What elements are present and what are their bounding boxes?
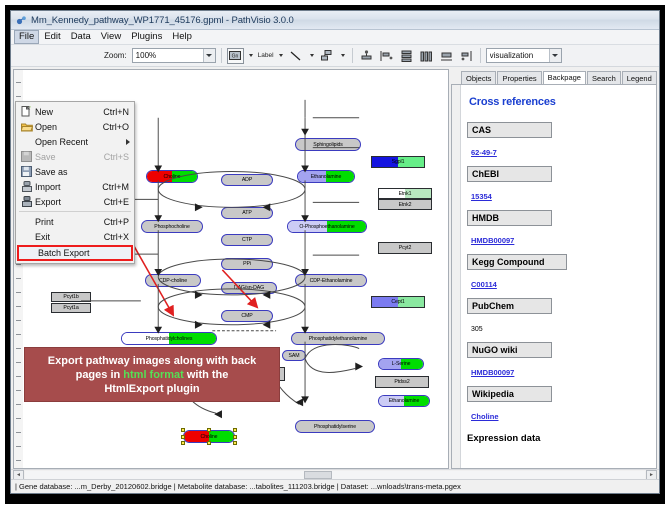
selection-handle[interactable] [207, 441, 211, 445]
pathway-gene-label: Ptdss2 [394, 379, 409, 385]
pathway-node-label: Sphingolipids [313, 142, 343, 148]
xref-value-row: 62-49-7 [467, 142, 648, 166]
scroll-right-icon[interactable]: ► [646, 470, 657, 480]
file-menu-dropdown[interactable]: NewCtrl+NOpenCtrl+OOpen RecentSaveCtrl+S… [15, 101, 135, 264]
pathway-node-label: CMP [241, 313, 252, 319]
save-as-icon [18, 165, 35, 178]
pathway-node-phosphatidylcholines[interactable]: Phosphatidylcholines [121, 332, 217, 345]
pathway-gene-etnk1[interactable]: Etnk1 [378, 188, 432, 199]
backpage-scrollbar[interactable] [452, 85, 461, 468]
main-toolbar: Zoom: 100% Gn Label [11, 45, 659, 67]
save-disk-icon [18, 150, 35, 163]
pathway-node-dag[interactable]: DAG/sn-DAG [221, 282, 277, 294]
status-text: | Gene database: ...m_Derby_20120602.bri… [15, 482, 461, 491]
backpage-content: Cross references CAS62-49-7ChEBI15354HMD… [461, 85, 656, 468]
cross-references-title: Cross references [469, 96, 648, 108]
pathway-gene-cept1[interactable]: Cept1 [371, 296, 425, 308]
chevron-down-icon-visualization[interactable] [549, 49, 561, 62]
pathway-gene-etnk2[interactable]: Etnk2 [378, 199, 432, 210]
selection-handle[interactable] [233, 428, 237, 432]
side-panel: Objects Properties Backpage Search Legen… [451, 69, 657, 469]
tab-legend[interactable]: Legend [622, 71, 657, 84]
xref-value-kegg-compound[interactable]: C00114 [471, 280, 497, 289]
scroll-left-icon[interactable]: ◄ [13, 470, 24, 480]
gene-tool-chevron-icon[interactable] [249, 54, 253, 57]
xref-source-chebi: ChEBI [467, 166, 552, 182]
selection-handle[interactable] [181, 441, 185, 445]
file-menu-accelerator: Ctrl+X [104, 232, 134, 242]
shape-tool-icon[interactable] [319, 48, 336, 64]
xref-value-row: C00114 [467, 274, 648, 298]
pathway-node-label: Phosphatidylserine [314, 424, 356, 430]
pathway-node-cdp-ethanolamine[interactable]: CDP-Ethanolamine [295, 274, 367, 287]
pathway-node-label: CTP [242, 237, 252, 243]
pathway-node-phosphocholine[interactable]: Phosphocholine [141, 220, 203, 233]
title-bar: Mm_Kennedy_pathway_WP1771_45176.gpml - P… [11, 11, 659, 30]
pathway-node-adp[interactable]: ADP [221, 174, 273, 186]
pathway-node-label: Phosphocholine [154, 224, 190, 230]
callout-line2-b: with the [184, 369, 229, 381]
selection-handle[interactable] [233, 441, 237, 445]
pathway-node-ctp[interactable]: CTP [221, 234, 273, 246]
selection-handle[interactable] [181, 428, 185, 432]
folder-open-icon [18, 120, 35, 133]
file-menu-item-export[interactable]: ExportCtrl+E [16, 194, 134, 209]
callout-line2-a: pages in [76, 369, 124, 381]
file-menu-item-print[interactable]: PrintCtrl+P [16, 214, 134, 229]
tab-objects[interactable]: Objects [461, 71, 496, 84]
zoom-label: Zoom: [104, 51, 127, 60]
xref-source-hmdb: HMDB [467, 210, 552, 226]
pathway-gene-label: Sgpl1 [392, 159, 405, 165]
xref-source-nugo-wiki: NuGO wiki [467, 342, 552, 358]
align-bottom-icon[interactable] [438, 48, 455, 64]
line-tool-icon[interactable] [288, 48, 305, 64]
visualization-value: visualization [490, 51, 549, 60]
pathway-gene-pcyt1a[interactable]: Pcyt1a [51, 303, 91, 313]
file-menu-item-batch-export[interactable]: Batch Export [17, 245, 133, 261]
scroll-thumb[interactable] [304, 471, 332, 479]
file-menu-accelerator: Ctrl+O [103, 122, 134, 132]
pathway-node-l-serine[interactable]: L-Serine [378, 358, 424, 370]
file-menu-item-new[interactable]: NewCtrl+N [16, 104, 134, 119]
zoom-combo[interactable]: 100% [132, 48, 216, 63]
menu-item-no-icon [21, 247, 38, 260]
pathway-gene-ptdss2[interactable]: Ptdss2 [375, 376, 429, 388]
file-menu-label: Save as [35, 167, 134, 177]
xref-value-wikipedia[interactable]: Choline [471, 412, 499, 421]
menu-bar: File Edit Data View Plugins Help [11, 30, 659, 45]
pathway-node-ethanolamine-right[interactable]: Ethanolamine [378, 395, 430, 407]
xref-value-cas[interactable]: 62-49-7 [471, 148, 497, 157]
pathway-node-label: CDP-choline [159, 278, 187, 284]
backpage-panel: Cross references CAS62-49-7ChEBI15354HMD… [451, 84, 657, 469]
pathway-node-label: Choline [201, 434, 218, 440]
file-menu-accelerator: Ctrl+N [103, 107, 134, 117]
label-tool-chevron-icon[interactable] [279, 54, 283, 57]
zoom-value: 100% [136, 51, 203, 60]
pathway-node-cdp-choline[interactable]: CDP-choline [145, 274, 201, 287]
main-body: SphingolipidsCholineEthanolamineADPATPPh… [11, 67, 659, 469]
xref-source-kegg-compound: Kegg Compound [467, 254, 567, 270]
expression-data-title: Expression data [467, 433, 648, 444]
align-top-icon[interactable] [358, 48, 375, 64]
xref-source-cas: CAS [467, 122, 552, 138]
file-menu-label: Export [35, 197, 104, 207]
stack-vertical-icon[interactable] [398, 48, 415, 64]
pathway-node-ppi[interactable]: PPi [221, 258, 273, 270]
label-tool-label[interactable]: Label [258, 52, 274, 59]
file-menu-item-open-recent[interactable]: Open Recent [16, 134, 134, 149]
menu-divider [19, 211, 131, 212]
pathway-node-label: ATP [242, 210, 251, 216]
menu-edit[interactable]: Edit [39, 30, 65, 44]
pathway-node-sphingolipids[interactable]: Sphingolipids [295, 138, 361, 151]
file-menu-label: Save [35, 152, 104, 162]
menu-item-no-icon [18, 215, 35, 228]
pathway-node-label: O-Phosphoethanolamine [299, 224, 354, 230]
annotation-callout: Export pathway images along with back pa… [24, 347, 280, 402]
xref-value-row: 305 [467, 318, 648, 342]
xref-value-row: Choline [467, 406, 648, 430]
pathway-gene-label: Etnk1 [399, 191, 412, 197]
window-title: Mm_Kennedy_pathway_WP1771_45176.gpml - P… [31, 15, 294, 26]
xref-value-pubchem: 305 [471, 326, 483, 333]
chevron-down-icon[interactable] [203, 49, 215, 62]
pathway-node-label: DAG/sn-DAG [234, 285, 264, 291]
pathway-node-label: Choline [164, 174, 181, 180]
pathway-gene-pcyt2[interactable]: Pcyt2 [378, 242, 432, 254]
file-menu-label: Print [35, 217, 104, 227]
pathway-node-choline-top[interactable]: Choline [146, 170, 198, 183]
horizontal-scrollbar[interactable]: ◄ ► [11, 469, 659, 479]
pathway-gene-sgpl1[interactable]: Sgpl1 [371, 156, 425, 168]
pathway-node-label: CDP-Ethanolamine [310, 278, 353, 284]
selection-handle[interactable] [233, 435, 237, 439]
xref-value-row: HMDB00097 [467, 230, 648, 254]
pathway-node-label: Ethanolamine [389, 398, 420, 404]
line-tool-chevron-icon[interactable] [310, 54, 314, 57]
scroll-track[interactable] [25, 471, 645, 479]
xref-value-hmdb[interactable]: HMDB00097 [471, 236, 514, 245]
file-menu-label: Import [35, 182, 102, 192]
stack-horizontal-icon[interactable] [418, 48, 435, 64]
new-file-icon [18, 105, 35, 118]
file-menu-accelerator: Ctrl+E [104, 197, 134, 207]
status-bar: | Gene database: ...m_Derby_20120602.bri… [11, 479, 659, 493]
pathway-node-label: ADP [242, 177, 252, 183]
pathway-gene-label: Cept1 [391, 299, 404, 305]
submenu-arrow-icon [126, 139, 130, 145]
file-menu-item-open[interactable]: OpenCtrl+O [16, 119, 134, 134]
callout-line3: HtmlExport plugin [104, 383, 199, 395]
xref-value-row: 15354 [467, 186, 648, 210]
xref-source-wikipedia: Wikipedia [467, 386, 552, 402]
callout-line1: Export pathway images along with back [48, 355, 256, 367]
file-menu-accelerator: Ctrl+M [102, 182, 134, 192]
menu-plugins[interactable]: Plugins [126, 30, 167, 44]
file-menu-label: Open Recent [35, 137, 134, 147]
pathway-node-phosphatidylserine[interactable]: Phosphatidylserine [295, 420, 375, 433]
pathway-node-phosphatidylethanolamine[interactable]: Phosphatidylethanolamine [291, 332, 385, 345]
menu-item-no-icon [18, 230, 35, 243]
pathway-node-ethanolamine-top[interactable]: Ethanolamine [297, 170, 355, 183]
pathway-gene-label: Etnk2 [399, 202, 412, 208]
xref-value-row: HMDB00097 [467, 362, 648, 386]
cross-reference-list: CAS62-49-7ChEBI15354HMDBHMDB00097Kegg Co… [467, 122, 648, 430]
pathway-node-label: Phosphatidylcholines [146, 336, 193, 342]
menu-file[interactable]: File [14, 30, 39, 44]
pathway-node-label: PPi [243, 261, 251, 267]
pathway-gene-label: Pcyt1b [63, 294, 78, 300]
xref-source-pubchem: PubChem [467, 298, 552, 314]
xref-value-nugo-wiki[interactable]: HMDB00097 [471, 368, 514, 377]
pathway-node-label: Phosphatidylethanolamine [309, 336, 367, 342]
side-panel-tabs: Objects Properties Backpage Search Legen… [451, 69, 657, 84]
file-menu-item-save[interactable]: SaveCtrl+S [16, 149, 134, 164]
menu-item-no-icon [18, 135, 35, 148]
file-menu-item-exit[interactable]: ExitCtrl+X [16, 229, 134, 244]
selection-handle[interactable] [181, 435, 185, 439]
tab-properties[interactable]: Properties [497, 71, 541, 84]
menu-view[interactable]: View [96, 30, 126, 44]
pathway-node-o-phosphoethanolamine[interactable]: O-Phosphoethanolamine [287, 220, 367, 233]
selection-handle[interactable] [207, 428, 211, 432]
pathway-node-sam[interactable]: SAM [282, 350, 306, 361]
pathvisio-window: Mm_Kennedy_pathway_WP1771_45176.gpml - P… [10, 10, 660, 494]
callout-highlight: html format [123, 369, 184, 381]
pathway-node-label: SAM [289, 353, 300, 359]
file-menu-accelerator: Ctrl+S [104, 152, 134, 162]
pathway-gene-label: Pcyt2 [399, 245, 411, 251]
gene-product-tool-icon[interactable]: Gn [227, 48, 244, 64]
file-menu-item-save-as[interactable]: Save as [16, 164, 134, 179]
pathway-gene-pcyt1b[interactable]: Pcyt1b [51, 292, 91, 302]
shape-tool-chevron-icon[interactable] [341, 54, 345, 57]
xref-value-chebi[interactable]: 15354 [471, 192, 492, 201]
pathvisio-icon [16, 15, 27, 26]
pathway-node-label: L-Serine [392, 361, 411, 367]
file-menu-label: New [35, 107, 103, 117]
pathway-node-label: Ethanolamine [311, 174, 342, 180]
pathway-node-atp[interactable]: ATP [221, 207, 273, 219]
pathway-node-cmp[interactable]: CMP [221, 310, 273, 322]
align-right-icon[interactable] [458, 48, 475, 64]
tab-backpage[interactable]: Backpage [543, 71, 586, 84]
svg-text:Gn: Gn [232, 54, 239, 60]
file-menu-item-import[interactable]: ImportCtrl+M [16, 179, 134, 194]
export-icon [18, 195, 35, 208]
file-menu-label: Open [35, 122, 103, 132]
menu-data[interactable]: Data [66, 30, 96, 44]
visualization-combo[interactable]: visualization [486, 48, 562, 63]
menu-help[interactable]: Help [167, 30, 197, 44]
import-icon [18, 180, 35, 193]
screenshot-root: Mm_Kennedy_pathway_WP1771_45176.gpml - P… [0, 0, 670, 509]
tab-search[interactable]: Search [587, 71, 621, 84]
file-menu-accelerator: Ctrl+P [104, 217, 134, 227]
align-left-icon[interactable] [378, 48, 395, 64]
file-menu-label: Batch Export [38, 248, 131, 258]
pathway-gene-label: Pcyt1a [63, 305, 78, 311]
file-menu-label: Exit [35, 232, 104, 242]
